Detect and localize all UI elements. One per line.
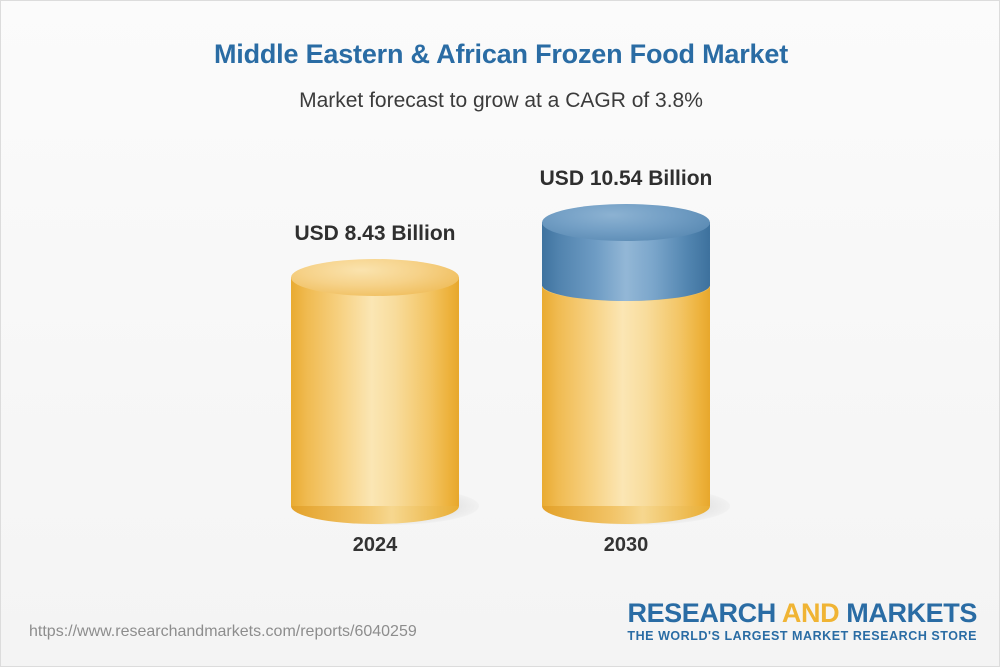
bar-body-2024 [291,277,459,506]
logo-wordmark: RESEARCH AND MARKETS [627,599,977,627]
bar-category-label-2030: 2030 [476,534,776,557]
bar-growth-bottom-cap-2030 [542,269,710,301]
bar-top-cap-2030 [542,204,710,241]
logo-word-research: RESEARCH [627,598,781,628]
bar-value-label-2030: USD 10.54 Billion [476,167,776,191]
source-url[interactable]: https://www.researchandmarkets.com/repor… [29,623,417,641]
bar-value-label-2024: USD 8.43 Billion [225,222,525,246]
chart-plot-area: USD 8.43 Billion 2024 USD 10.54 Billion [1,1,1000,667]
bar-top-cap-2024 [291,259,459,296]
logo-word-markets: MARKETS [839,598,977,628]
bar-base-segment-2030 [542,283,710,506]
research-and-markets-logo: RESEARCH AND MARKETS THE WORLD'S LARGEST… [627,599,977,643]
logo-tagline: THE WORLD'S LARGEST MARKET RESEARCH STOR… [627,629,977,643]
logo-word-and: AND [782,598,839,628]
chart-canvas: Middle Eastern & African Frozen Food Mar… [0,0,1000,667]
